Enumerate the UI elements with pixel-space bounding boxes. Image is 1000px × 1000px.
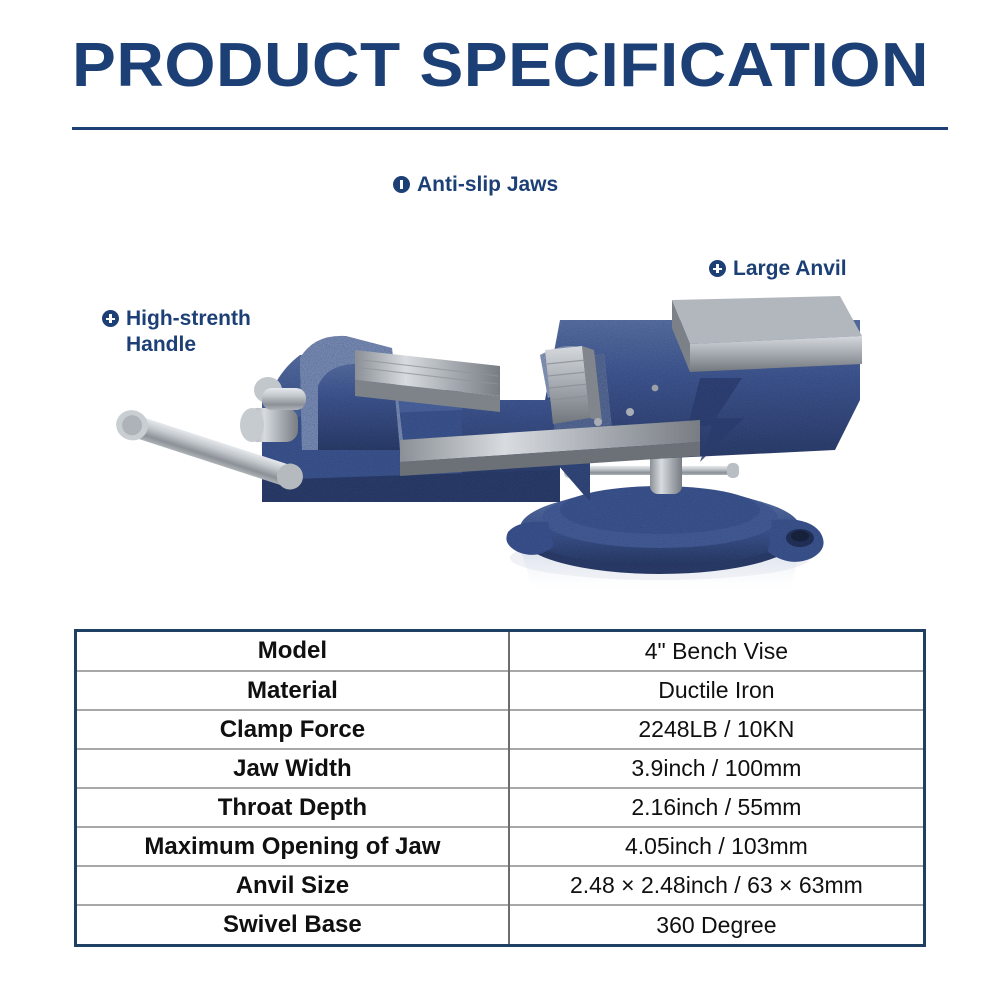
title-divider — [72, 127, 948, 130]
spec-label: Throat Depth — [77, 788, 509, 827]
header: PRODUCT SPECIFICATION — [0, 0, 1000, 140]
spec-label: Model — [77, 632, 509, 671]
spec-value: 2.48 × 2.48inch / 63 × 63mm — [509, 866, 923, 905]
spec-table-element: Model4" Bench ViseMaterialDuctile IronCl… — [77, 632, 923, 944]
spec-value: 4.05inch / 103mm — [509, 827, 923, 866]
spec-label: Swivel Base — [77, 905, 509, 944]
spec-value: 2.16inch / 55mm — [509, 788, 923, 827]
spec-value: Ductile Iron — [509, 671, 923, 710]
spec-value: 3.9inch / 100mm — [509, 749, 923, 788]
table-row: Throat Depth2.16inch / 55mm — [77, 788, 923, 827]
anvil-surface — [672, 296, 862, 372]
spec-table-body: Model4" Bench ViseMaterialDuctile IronCl… — [77, 632, 923, 944]
table-row: Clamp Force2248LB / 10KN — [77, 710, 923, 749]
table-row: MaterialDuctile Iron — [77, 671, 923, 710]
table-row: Jaw Width3.9inch / 100mm — [77, 749, 923, 788]
spec-label: Clamp Force — [77, 710, 509, 749]
specification-table: Model4" Bench ViseMaterialDuctile IronCl… — [74, 629, 926, 947]
table-row: Swivel Base360 Degree — [77, 905, 923, 944]
spec-label: Anvil Size — [77, 866, 509, 905]
page-title: PRODUCT SPECIFICATION — [72, 30, 1000, 102]
bench-vise-illustration — [0, 150, 1000, 610]
main-handle — [112, 377, 307, 495]
table-row: Model4" Bench Vise — [77, 632, 923, 671]
product-image — [0, 150, 1000, 610]
spec-value: 4" Bench Vise — [509, 632, 923, 671]
table-row: Anvil Size2.48 × 2.48inch / 63 × 63mm — [77, 866, 923, 905]
spec-label: Maximum Opening of Jaw — [77, 827, 509, 866]
spec-label: Jaw Width — [77, 749, 509, 788]
spec-value: 2248LB / 10KN — [509, 710, 923, 749]
spec-value: 360 Degree — [509, 905, 923, 944]
table-row: Maximum Opening of Jaw4.05inch / 103mm — [77, 827, 923, 866]
spec-label: Material — [77, 671, 509, 710]
